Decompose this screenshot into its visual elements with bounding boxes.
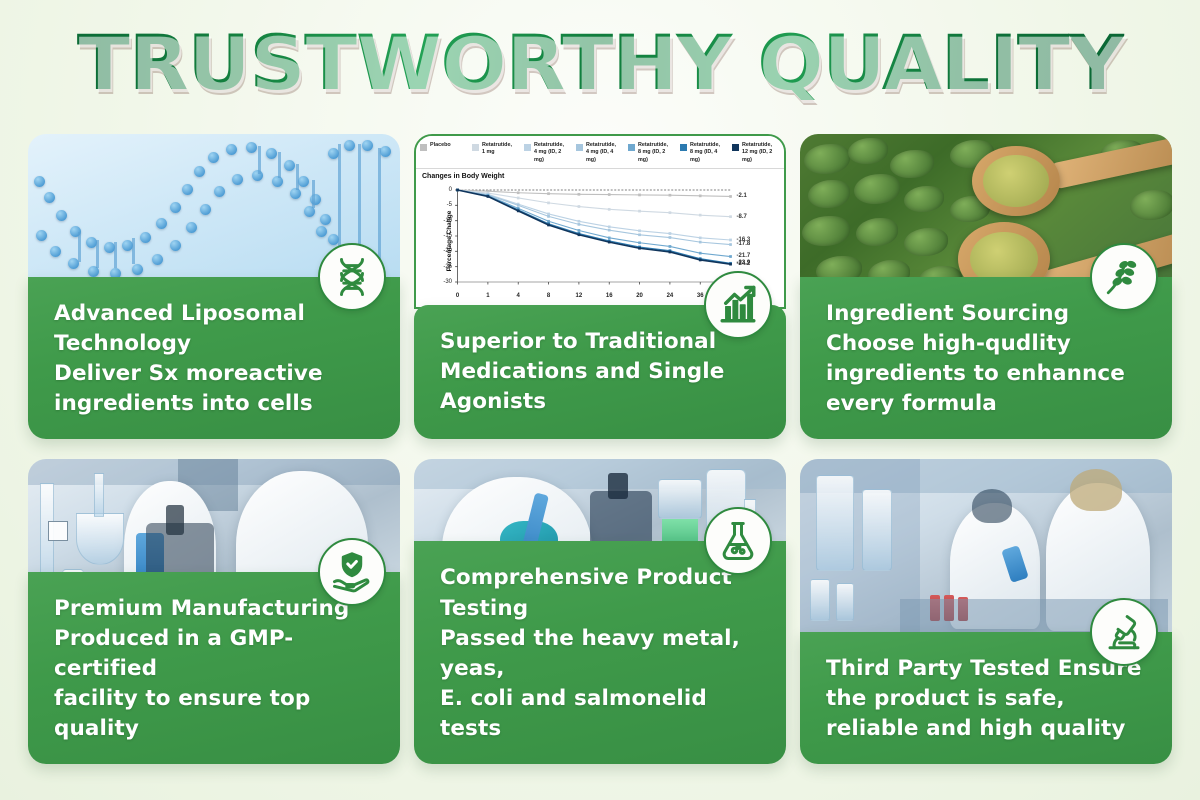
card-body-third-party-tested: Third Party Tested Ensure the product is… [800,632,1172,764]
legend-label: Retatrutide, 8 mg (ID, 4 mg) [690,142,728,164]
legend-label: Placebo [430,142,451,149]
card-text: Advanced Liposomal Technology Deliver Sx… [54,299,376,419]
legend-swatch [472,144,479,151]
card-body-ingredient-sourcing: Ingredient Sourcing Choose high-qudlity … [800,277,1172,439]
spoon-bowl-bottom [958,222,1050,277]
card-body-premium-manufacturing: Premium Manufacturing Produced in a GMP-… [28,572,400,764]
legend-swatch [524,144,531,151]
legend-swatch [576,144,583,151]
card-body-superior-to-traditional-medications: Superior to Traditional Medications and … [414,305,786,439]
chart-legend: Placebo Retatrutide, 1 mg Retatrutide, 4… [416,136,784,169]
feature-card-grid: Advanced Liposomal Technology Deliver Sx… [28,134,1172,774]
legend-label: Retatrutide, 12 mg (ID, 2 mg) [742,142,780,164]
legend-item: Retatrutide, 4 mg (ID, 2 mg) [524,142,572,164]
chart-title: Changes in Body Weight [416,169,784,182]
spoon-bowl-top [972,146,1060,216]
legend-swatch [732,144,739,151]
legend-item: Retatrutide, 8 mg (ID, 2 mg) [628,142,676,164]
feature-card-premium-manufacturing[interactable]: Premium Manufacturing Produced in a GMP-… [28,459,400,764]
card-text: Superior to Traditional Medications and … [440,327,762,417]
legend-label: Retatrutide, 4 mg (ID, 4 mg) [586,142,624,164]
page-title: TRUSTWORTHY QUALITY [76,25,1123,101]
card-text: Comprehensive Product Testing Passed the… [440,563,762,744]
card-body-comprehensive-product-testing: Comprehensive Product Testing Passed the… [414,541,786,764]
feature-card-comprehensive-product-testing[interactable]: Comprehensive Product Testing Passed the… [414,459,786,764]
legend-item: Retatrutide, 8 mg (ID, 4 mg) [680,142,728,164]
legend-label: Retatrutide, 4 mg (ID, 2 mg) [534,142,572,164]
page-header: TRUSTWORTHY QUALITY TRUSTWORTHY QUALITY [0,0,1200,118]
dna-icon [318,243,386,311]
legend-swatch [628,144,635,151]
feature-card-third-party-tested[interactable]: Third Party Tested Ensure the product is… [800,459,1172,764]
legend-item: Placebo [420,142,468,164]
card-text: Premium Manufacturing Produced in a GMP-… [54,594,376,744]
hand-shield-check-icon [318,538,386,606]
legend-item: Retatrutide, 1 mg [472,142,520,164]
leaf-branch-icon [1090,243,1158,311]
flask-icon [704,507,772,575]
legend-swatch [680,144,687,151]
legend-swatch [420,144,427,151]
legend-label: Retatrutide, 1 mg [482,142,512,157]
legend-item: Retatrutide, 12 mg (ID, 2 mg) [732,142,780,164]
feature-card-advanced-liposomal-technology[interactable]: Advanced Liposomal Technology Deliver Sx… [28,134,400,439]
card-text: Ingredient Sourcing Choose high-qudlity … [826,299,1148,419]
legend-label: Retatrutide, 8 mg (ID, 2 mg) [638,142,676,164]
feature-card-ingredient-sourcing[interactable]: Ingredient Sourcing Choose high-qudlity … [800,134,1172,439]
card-body-advanced-liposomal-technology: Advanced Liposomal Technology Deliver Sx… [28,277,400,439]
card-text: Third Party Tested Ensure the product is… [826,654,1148,744]
legend-item: Retatrutide, 4 mg (ID, 4 mg) [576,142,624,164]
green-liquid-flask [662,519,698,541]
growth-chart-icon [704,271,772,339]
microscope-icon [1090,598,1158,666]
feature-card-superior-to-traditional-medications[interactable]: Placebo Retatrutide, 1 mg Retatrutide, 4… [414,134,786,439]
